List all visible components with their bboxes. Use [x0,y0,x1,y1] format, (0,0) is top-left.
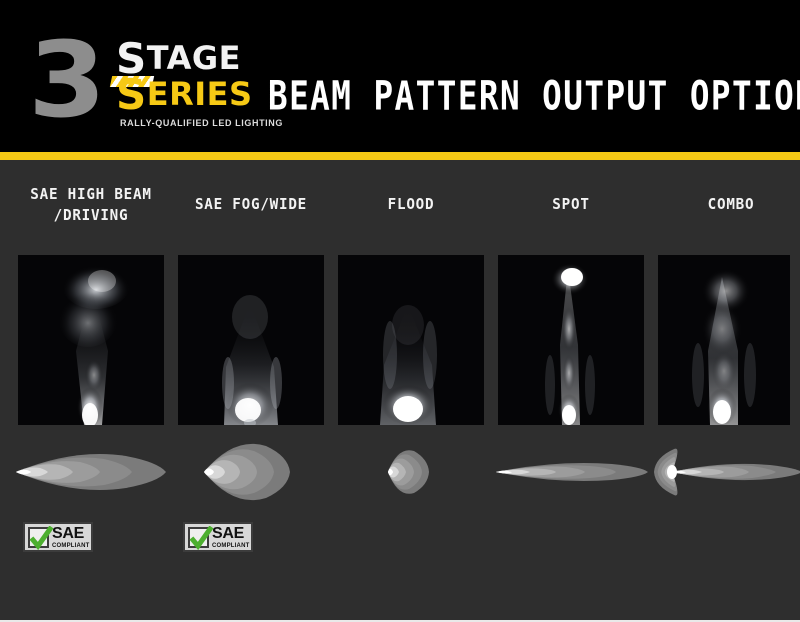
column-label-line1: SAE FOG/WIDE [195,195,307,213]
beam-photo-combo [658,255,790,425]
sae-compliant-badge-sae-high-beam-driving: SAE COMPLIANT [23,522,93,552]
sae-badge-text: SAE COMPLIANT [212,526,249,549]
logo-tagline: RALLY-QUALIFIED LED LIGHTING [120,118,283,128]
column-label-sae-fog-wide: SAE FOG/WIDE [167,194,334,215]
brand-logo: 3 STAGE SERIES RALLY-QUALIFIED LED LIGHT… [28,26,243,134]
yellow-divider-bar [0,152,800,160]
beam-diagram-sae-high-beam-driving [10,442,172,502]
checkmark-icon [28,527,49,548]
sae-badge-line2: COMPLIANT [52,543,89,549]
logo-word-series: SERIES [116,78,253,111]
beam-photo-spot [498,255,644,425]
sae-badge-line1: SAE [52,526,89,542]
column-label-line1: SAE HIGH BEAM [30,185,151,203]
column-label-combo: COMBO [662,194,800,215]
column-label-sae-high-beam-driving: SAE HIGH BEAM /DRIVING [7,184,174,226]
sae-compliant-badge-sae-fog-wide: SAE COMPLIANT [183,522,253,552]
column-label-line2: /DRIVING [54,206,129,224]
logo-stage-rest: TAGE [147,39,241,77]
beam-photo-sae-fog-wide [178,255,324,425]
logo-series-rest: ERIES [147,75,253,113]
beam-photo-sae-high-beam-driving [18,255,164,425]
page-title: BEAM PATTERN OUTPUT OPTIONS [268,74,800,119]
sae-badge-line2: COMPLIANT [212,543,249,549]
column-label-flood: FLOOD [342,194,481,215]
checkmark-icon [188,527,209,548]
column-label-line1: FLOOD [388,195,435,213]
column-label-line1: COMBO [708,195,755,213]
sae-badge-line1: SAE [212,526,249,542]
sae-badge-text: SAE COMPLIANT [52,526,89,549]
beam-diagram-combo [650,442,800,502]
column-label-line1: SPOT [552,195,589,213]
beam-photo-flood [338,255,484,425]
beam-diagram-flood [330,442,492,502]
beam-pattern-grid: SAE HIGH BEAM /DRIVING [0,160,800,620]
beam-diagram-spot [490,442,652,502]
column-label-spot: SPOT [502,194,641,215]
header-banner: 3 STAGE SERIES RALLY-QUALIFIED LED LIGHT… [0,0,800,152]
logo-numeral-3: 3 [28,28,100,132]
logo-series-cap: S [116,70,147,119]
beam-diagram-sae-fog-wide [170,442,332,502]
